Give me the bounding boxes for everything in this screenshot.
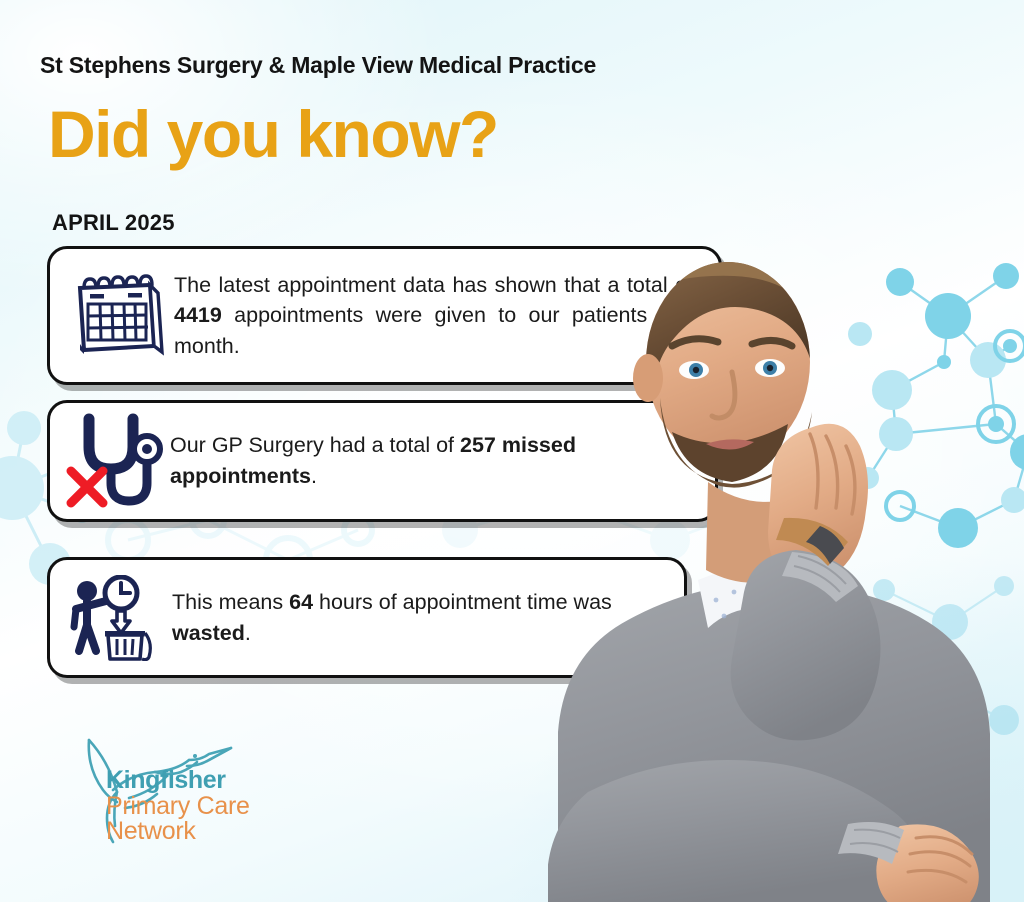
calendar-icon: [72, 274, 164, 358]
calendar-icon-wrap: [62, 274, 174, 358]
card-3-text-tail: .: [245, 621, 251, 645]
card-2-text-before: Our GP Surgery had a total of: [170, 433, 460, 457]
practice-name: St Stephens Surgery & Maple View Medical…: [40, 52, 596, 79]
logo-text: Kingfisher Primary Care Network: [106, 768, 250, 845]
month-label: APRIL 2025: [52, 210, 175, 236]
card-2-text-after: .: [311, 464, 317, 488]
stethoscope-missed-icon: [63, 413, 169, 509]
card-3-emphasis: wasted: [172, 621, 245, 645]
wasted-time-icon-wrap: [64, 575, 168, 661]
card-3-value: 64: [289, 590, 313, 614]
infographic-poster: St Stephens Surgery & Maple View Medical…: [0, 0, 1024, 902]
card-2-value: 257: [460, 433, 496, 457]
logo-line-kingfisher: Kingfisher: [106, 768, 250, 794]
page-title: Did you know?: [48, 101, 498, 167]
logo-line-primary-care: Primary Care: [106, 794, 250, 820]
stethoscope-icon-wrap: [56, 413, 176, 509]
photo-man-thinking: [548, 232, 1024, 902]
wasted-time-bin-icon: [70, 575, 162, 661]
card-1-value: 4419: [174, 303, 222, 327]
card-3-text-before: This means: [172, 590, 289, 614]
logo-line-network: Network: [106, 819, 250, 845]
